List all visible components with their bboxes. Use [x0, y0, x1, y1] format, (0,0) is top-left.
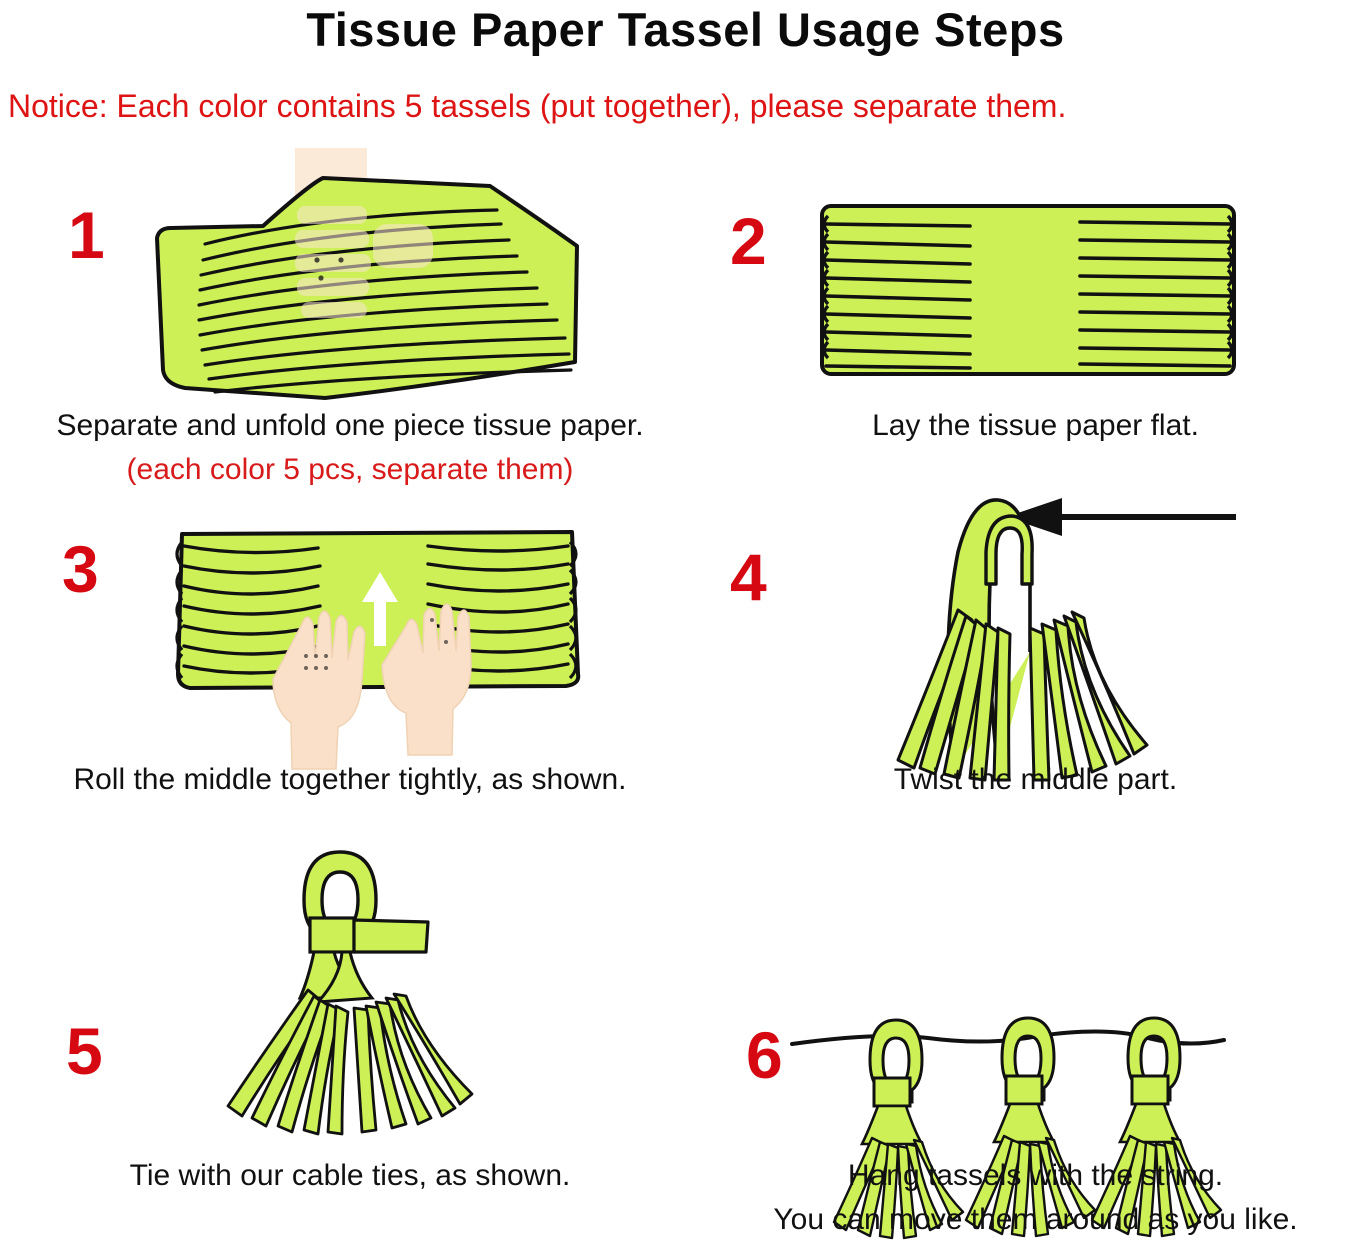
- step-6: 6: [700, 840, 1371, 1254]
- tissue-paper-tassel-instruction-sheet: Tissue Paper Tassel Usage Steps Notice: …: [0, 0, 1371, 1254]
- step-6-sub-caption: You can move them around as you like.: [700, 1202, 1371, 1237]
- step-5-caption: Tie with our cable ties, as shown.: [0, 1158, 700, 1193]
- step-1-caption: Separate and unfold one piece tissue pap…: [0, 408, 700, 443]
- step-1: 1: [0, 140, 700, 530]
- cable-tie-icon: [310, 918, 428, 952]
- step-6-caption: Hang tassels with the string.: [700, 1158, 1371, 1193]
- hands-rolling-middle-icon: [160, 524, 590, 754]
- step-1-illustration: [145, 148, 585, 408]
- step-2-caption: Lay the tissue paper flat.: [700, 408, 1371, 443]
- step-5-illustration: [222, 840, 522, 1140]
- step-3-number: 3: [62, 536, 99, 602]
- step-4-illustration: [880, 492, 1240, 782]
- fringed-tissue-sheet-icon: [145, 148, 585, 408]
- step-4-caption: Twist the middle part.: [700, 762, 1371, 797]
- step-4: 4: [700, 514, 1371, 854]
- step-3: 3: [0, 514, 700, 854]
- left-arrow-icon: [1006, 498, 1236, 536]
- step-6-number: 6: [746, 1022, 783, 1088]
- step-2-number: 2: [730, 208, 767, 274]
- steps-grid: 1: [0, 140, 1371, 1254]
- step-1-sub-caption: (each color 5 pcs, separate them): [0, 452, 700, 487]
- step-2-illustration: [818, 200, 1238, 380]
- step-4-number: 4: [730, 544, 767, 610]
- page-title: Tissue Paper Tassel Usage Steps: [0, 2, 1371, 57]
- step-5: 5: [0, 840, 700, 1254]
- step-3-caption: Roll the middle together tightly, as sho…: [0, 762, 700, 797]
- folded-tassel-twist-icon: [880, 492, 1240, 782]
- tassel-with-cable-tie-icon: [222, 840, 522, 1140]
- step-1-number: 1: [68, 202, 105, 268]
- step-2: 2: [700, 140, 1371, 530]
- step-5-number: 5: [66, 1018, 103, 1084]
- flat-fringed-tissue-stack-icon: [818, 200, 1238, 380]
- step-3-illustration: [160, 524, 590, 754]
- notice-text: Notice: Each color contains 5 tassels (p…: [8, 88, 1368, 125]
